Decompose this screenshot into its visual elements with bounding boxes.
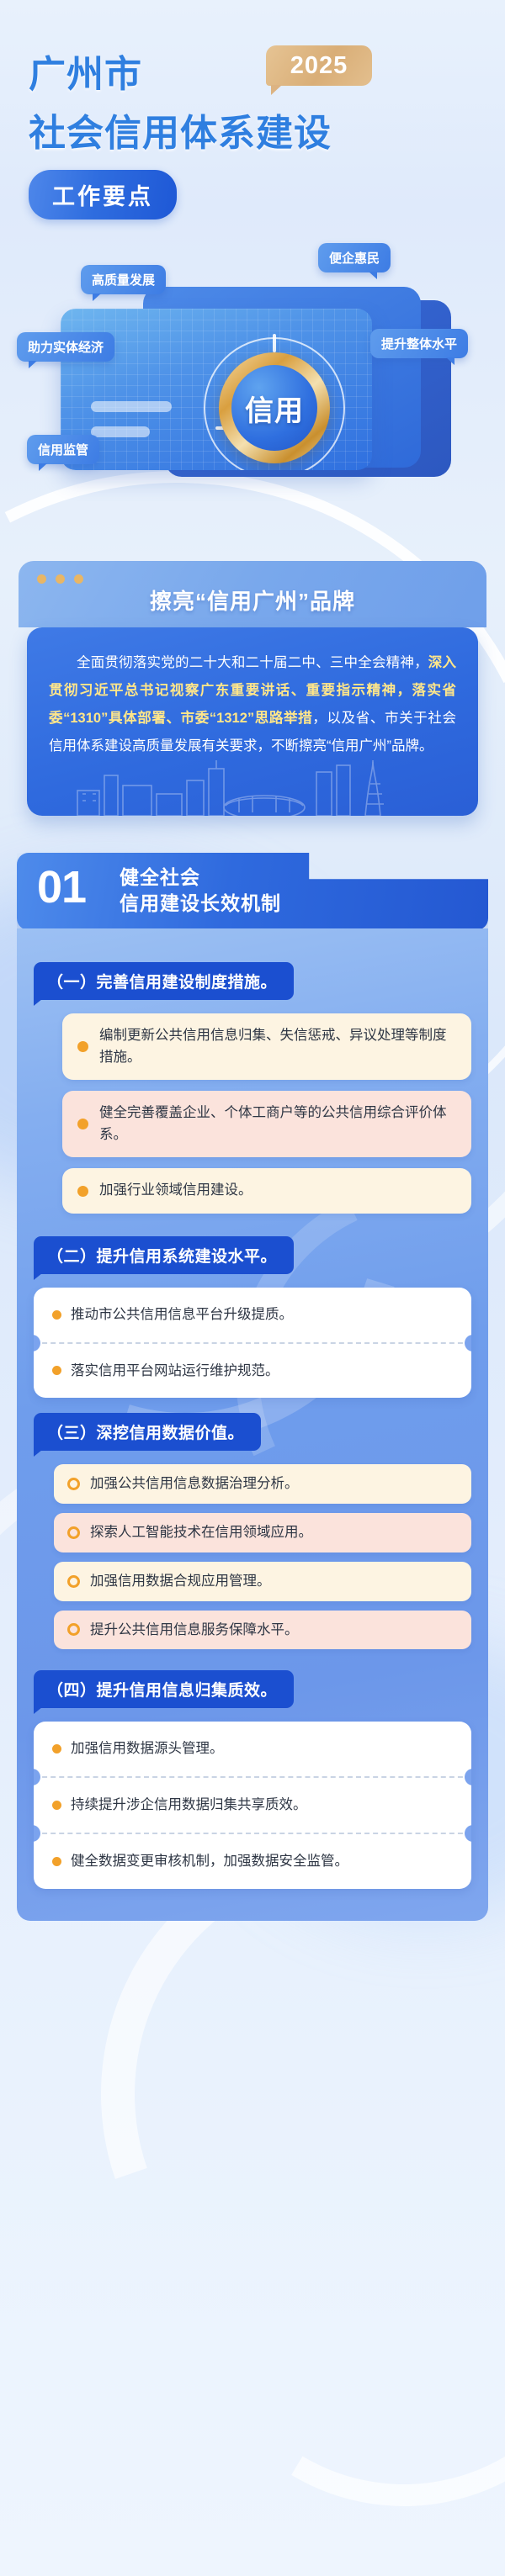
- section-number: 01: [37, 865, 86, 910]
- bullet-dot-icon: [77, 1041, 88, 1052]
- list-item: 提升公共信用信息服务保障水平。: [54, 1611, 471, 1650]
- brand-card-body: 全面贯彻落实党的二十大和二十届二中、三中全会精神，深入贯彻习近平总书记视察广东重…: [27, 627, 478, 816]
- list-item: 健全完善覆盖企业、个体工商户等的公共信用综合评价体系。: [62, 1091, 471, 1157]
- window-dot-icon: [74, 574, 83, 584]
- subsection-items-3: 加强公共信用信息数据治理分析。探索人工智能技术在信用领域应用。加强信用数据合规应…: [34, 1464, 471, 1649]
- list-item-text: 加强公共信用信息数据治理分析。: [90, 1473, 299, 1494]
- bullet-ring-icon: [67, 1478, 80, 1490]
- list-item: 探索人工智能技术在信用领域应用。: [54, 1513, 471, 1552]
- guangzhou-skyline-icon: [27, 757, 478, 816]
- bullet-dot-icon: [52, 1310, 61, 1320]
- list-item-text: 持续提升涉企信用数据归集共享质效。: [71, 1795, 307, 1816]
- brand-card-header: 擦亮“信用广州”品牌: [19, 561, 486, 627]
- list-item: 编制更新公共信用信息归集、失信惩戒、异议处理等制度措施。: [62, 1013, 471, 1080]
- list-item-text: 加强行业领域信用建设。: [99, 1180, 252, 1202]
- list-item-text: 提升公共信用信息服务保障水平。: [90, 1620, 299, 1641]
- credit-coin-icon: 信用: [219, 352, 330, 463]
- poster-header: 广州市 社会信用体系建设 2025 工作要点: [0, 0, 505, 220]
- subsection-list: （一）完善信用建设制度措施。编制更新公共信用信息归集、失信惩戒、异议处理等制度措…: [34, 950, 471, 1889]
- list-item-text: 加强信用数据合规应用管理。: [90, 1571, 271, 1592]
- brand-paragraph-text: 全面贯彻落实党的二十大和二十届二中、三中全会精神，: [77, 655, 428, 670]
- section-title-line2: 信用建设长效机制: [120, 891, 281, 917]
- list-item-text: 健全数据变更审核机制，加强数据安全监管。: [71, 1851, 348, 1872]
- list-item-text: 落实信用平台网站运行维护规范。: [71, 1361, 279, 1382]
- hero-tag-overall-level: 提升整体水平: [370, 329, 468, 358]
- bullet-dot-icon: [77, 1186, 88, 1197]
- list-item-text: 加强信用数据源头管理。: [71, 1738, 224, 1759]
- bullet-ring-icon: [67, 1575, 80, 1588]
- bullet-ring-icon: [67, 1526, 80, 1539]
- hero-illustration: 信用 高质量发展 助力实体经济 信用监管 便企惠民 提升整体水平: [0, 240, 505, 542]
- list-item: 健全数据变更审核机制，加强数据安全监管。: [34, 1833, 471, 1889]
- hero-tag-benefit-enterprises: 便企惠民: [318, 243, 391, 272]
- section-header: 01 健全社会 信用建设长效机制: [17, 853, 488, 930]
- list-item-text: 编制更新公共信用信息归集、失信惩戒、异议处理等制度措施。: [99, 1025, 456, 1068]
- list-item: 推动市公共信用信息平台升级提质。: [34, 1288, 471, 1342]
- section-title-line1: 健全社会: [120, 865, 281, 891]
- list-item: 持续提升涉企信用数据归集共享质效。: [34, 1776, 471, 1833]
- hero-tag-real-economy: 助力实体经济: [17, 332, 114, 362]
- subsection-heading-3: （三）深挖信用数据价值。: [34, 1413, 261, 1451]
- page-title-line2: 社会信用体系建设: [29, 103, 505, 156]
- list-item: 加强行业领域信用建设。: [62, 1168, 471, 1214]
- section-panel: （一）完善信用建设制度措施。编制更新公共信用信息归集、失信惩戒、异议处理等制度措…: [17, 928, 488, 1921]
- bullet-dot-icon: [77, 1119, 88, 1129]
- window-dot-icon: [37, 574, 46, 584]
- subsection-heading-2: （二）提升信用系统建设水平。: [34, 1236, 294, 1274]
- bullet-dot-icon: [52, 1801, 61, 1810]
- subsection-items-1: 编制更新公共信用信息归集、失信惩戒、异议处理等制度措施。健全完善覆盖企业、个体工…: [34, 1013, 471, 1214]
- bullet-dot-icon: [52, 1857, 61, 1866]
- subsection-items-2: 推动市公共信用信息平台升级提质。落实信用平台网站运行维护规范。: [34, 1288, 471, 1399]
- list-item-text: 健全完善覆盖企业、个体工商户等的公共信用综合评价体系。: [99, 1103, 456, 1145]
- brand-card-title: 擦亮“信用广州”品牌: [19, 584, 486, 616]
- ticket-card: 加强信用数据源头管理。持续提升涉企信用数据归集共享质效。健全数据变更审核机制，加…: [34, 1722, 471, 1888]
- ticket-card: 推动市公共信用信息平台升级提质。落实信用平台网站运行维护规范。: [34, 1288, 471, 1399]
- window-dot-icon: [56, 574, 65, 584]
- list-item-text: 探索人工智能技术在信用领域应用。: [90, 1522, 312, 1543]
- hero-tag-credit-supervision: 信用监管: [27, 435, 99, 464]
- list-item-text: 推动市公共信用信息平台升级提质。: [71, 1304, 293, 1325]
- hero-card-bar: [91, 426, 150, 437]
- hero-card-bar: [91, 401, 172, 412]
- list-item: 加强信用数据合规应用管理。: [54, 1562, 471, 1601]
- brand-card-paragraph: 全面贯彻落实党的二十大和二十届二中、三中全会精神，深入贯彻习近平总书记视察广东重…: [49, 649, 456, 760]
- subsection-heading-4: （四）提升信用信息归集质效。: [34, 1670, 294, 1708]
- window-dots: [37, 574, 83, 584]
- subsection-items-4: 加强信用数据源头管理。持续提升涉企信用数据归集共享质效。健全数据变更审核机制，加…: [34, 1722, 471, 1888]
- hero-tag-high-quality-development: 高质量发展: [81, 265, 166, 294]
- bullet-dot-icon: [52, 1744, 61, 1753]
- subsection-heading-1: （一）完善信用建设制度措施。: [34, 962, 294, 1000]
- list-item: 落实信用平台网站运行维护规范。: [34, 1342, 471, 1399]
- list-item: 加强信用数据源头管理。: [34, 1722, 471, 1776]
- section-01: 01 健全社会 信用建设长效机制 （一）完善信用建设制度措施。编制更新公共信用信…: [17, 853, 488, 1921]
- work-points-pill: 工作要点: [29, 170, 177, 220]
- year-badge: 2025: [266, 45, 372, 86]
- brand-card: 擦亮“信用广州”品牌 全面贯彻落实党的二十大和二十届二中、三中全会精神，深入贯彻…: [19, 561, 486, 816]
- list-item: 加强公共信用信息数据治理分析。: [54, 1464, 471, 1504]
- credit-coin-label: 信用: [245, 388, 304, 429]
- bullet-ring-icon: [67, 1623, 80, 1636]
- bullet-dot-icon: [52, 1366, 61, 1375]
